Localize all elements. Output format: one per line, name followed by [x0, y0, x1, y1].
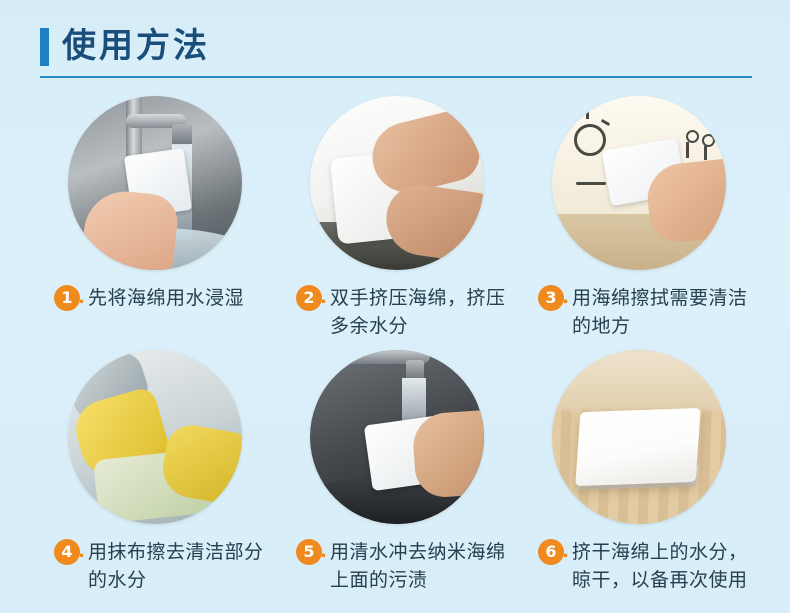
- steps-grid: 1 先将海绵用水浸湿 2 双手挤压海绵，挤压多余水分: [34, 96, 760, 604]
- step-caption-text: 挤干海绵上的水分，晾干，以备再次使用: [572, 538, 752, 594]
- step-4-photo: [68, 350, 242, 524]
- page-title: 使用方法: [62, 24, 210, 68]
- step-5-photo: [310, 350, 484, 524]
- step-item: 2 双手挤压海绵，挤压多余水分: [276, 96, 518, 340]
- step-item: 3 用海绵擦拭需要清洁的地方: [518, 96, 760, 340]
- step-number-badge: 4: [54, 539, 80, 565]
- step-number-badge: 6: [538, 539, 564, 565]
- step-1-caption: 1 先将海绵用水浸湿: [34, 284, 276, 312]
- step-item: 4 用抹布擦去清洁部分的水分: [34, 350, 276, 594]
- step-item: 5 用清水冲去纳米海绵上面的污渍: [276, 350, 518, 594]
- step-5-caption: 5 用清水冲去纳米海绵上面的污渍: [276, 538, 518, 594]
- rinsing-sponge-photo: [310, 350, 484, 524]
- step-caption-text: 先将海绵用水浸湿: [88, 284, 244, 312]
- step-item: 1 先将海绵用水浸湿: [34, 96, 276, 340]
- wiping-wall-with-sponge-photo: [552, 96, 726, 270]
- step-3-caption: 3 用海绵擦拭需要清洁的地方: [518, 284, 760, 340]
- header-divider: [40, 76, 752, 78]
- step-6-photo: [552, 350, 726, 524]
- dried-sponge-block-on-wood-photo: [552, 350, 726, 524]
- step-number-badge: 5: [296, 539, 322, 565]
- step-item: 6 挤干海绵上的水分，晾干，以备再次使用: [518, 350, 760, 594]
- step-caption-text: 用清水冲去纳米海绵上面的污渍: [330, 538, 510, 594]
- step-caption-text: 用抹布擦去清洁部分的水分: [88, 538, 268, 594]
- title-accent-bar: [40, 28, 49, 66]
- step-1-photo: [68, 96, 242, 270]
- sun-doodle-icon: [574, 124, 606, 156]
- step-4-caption: 4 用抹布擦去清洁部分的水分: [34, 538, 276, 594]
- wiping-with-cloth-gloves-photo: [68, 350, 242, 524]
- step-2-caption: 2 双手挤压海绵，挤压多余水分: [276, 284, 518, 340]
- step-6-caption: 6 挤干海绵上的水分，晾干，以备再次使用: [518, 538, 760, 594]
- step-number-badge: 2: [296, 285, 322, 311]
- step-2-photo: [310, 96, 484, 270]
- squeezing-sponge-with-hands-photo: [310, 96, 484, 270]
- step-number-badge: 3: [538, 285, 564, 311]
- step-3-photo: [552, 96, 726, 270]
- step-caption-text: 双手挤压海绵，挤压多余水分: [330, 284, 510, 340]
- usage-instructions-page: 使用方法 1 先将海绵用水浸湿: [0, 0, 790, 613]
- wetting-sponge-under-faucet-photo: [68, 96, 242, 270]
- step-number-badge: 1: [54, 285, 80, 311]
- step-caption-text: 用海绵擦拭需要清洁的地方: [572, 284, 752, 340]
- page-header: 使用方法: [40, 24, 752, 80]
